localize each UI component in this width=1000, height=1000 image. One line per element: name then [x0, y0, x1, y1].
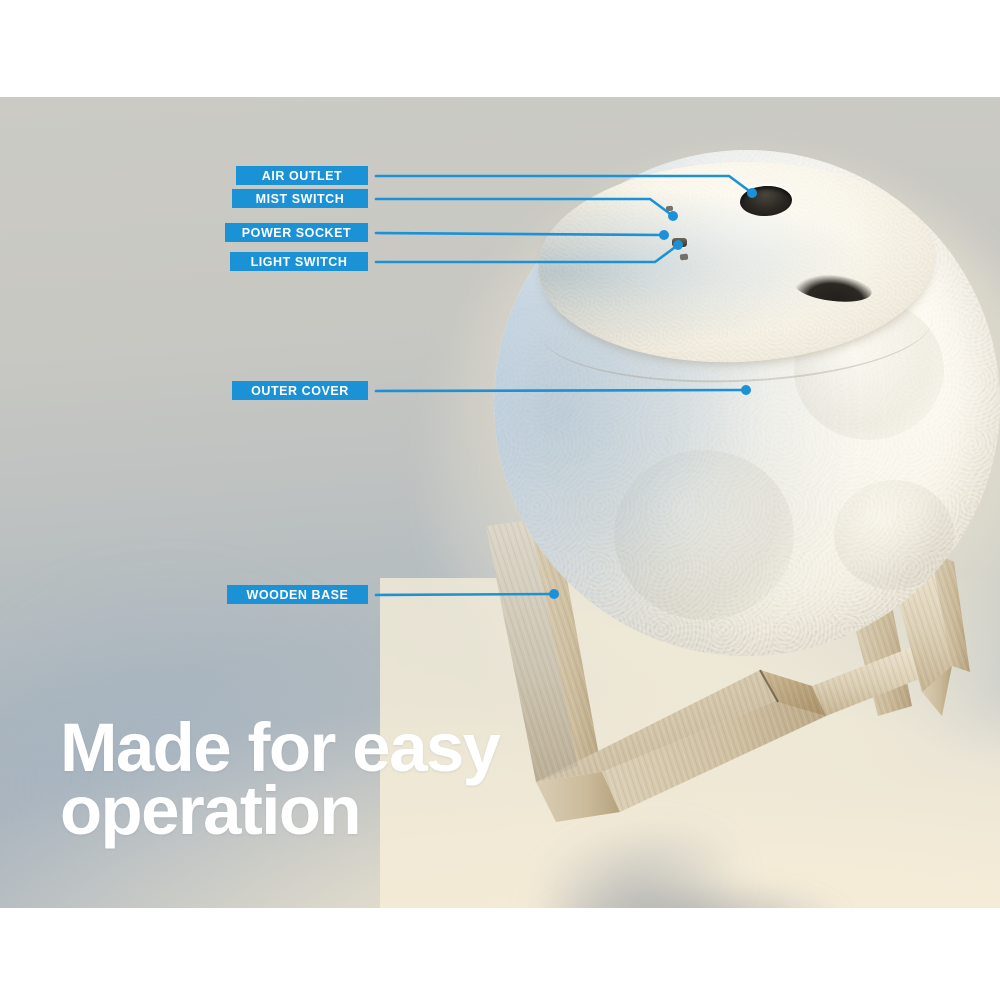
callout-tag-mist-switch: MIST SWITCH — [232, 189, 368, 208]
headline-line-1: Made for easy — [60, 716, 499, 779]
leader-line-outer-cover — [376, 390, 746, 391]
leader-dot-light-switch — [673, 240, 683, 250]
leader-line-power-socket — [376, 233, 664, 235]
leader-dot-wooden-base — [549, 589, 559, 599]
leader-dot-air-outlet — [747, 188, 757, 198]
infographic-canvas: AIR OUTLETMIST SWITCHPOWER SOCKETLIGHT S… — [0, 0, 1000, 1000]
headline: Made for easy operation — [60, 716, 499, 843]
leader-line-wooden-base — [376, 594, 554, 595]
leader-dot-outer-cover — [741, 385, 751, 395]
callout-label-outer-cover: OUTER COVER — [251, 384, 349, 398]
callout-tag-power-socket: POWER SOCKET — [225, 223, 368, 242]
callout-label-light-switch: LIGHT SWITCH — [251, 255, 348, 269]
callout-tag-air-outlet: AIR OUTLET — [236, 166, 368, 185]
leader-line-mist-switch — [376, 199, 673, 216]
callout-label-power-socket: POWER SOCKET — [242, 226, 351, 240]
headline-line-2: operation — [60, 779, 499, 842]
leader-dot-mist-switch — [668, 211, 678, 221]
callout-layer — [0, 0, 1000, 1000]
leader-lines — [0, 0, 1000, 1000]
callout-label-mist-switch: MIST SWITCH — [256, 192, 345, 206]
callout-tag-wooden-base: WOODEN BASE — [227, 585, 368, 604]
callout-label-air-outlet: AIR OUTLET — [262, 169, 343, 183]
leader-line-air-outlet — [376, 176, 752, 193]
leader-line-light-switch — [376, 245, 678, 262]
callout-tag-light-switch: LIGHT SWITCH — [230, 252, 368, 271]
callout-tag-outer-cover: OUTER COVER — [232, 381, 368, 400]
callout-label-wooden-base: WOODEN BASE — [247, 588, 349, 602]
leader-dot-power-socket — [659, 230, 669, 240]
